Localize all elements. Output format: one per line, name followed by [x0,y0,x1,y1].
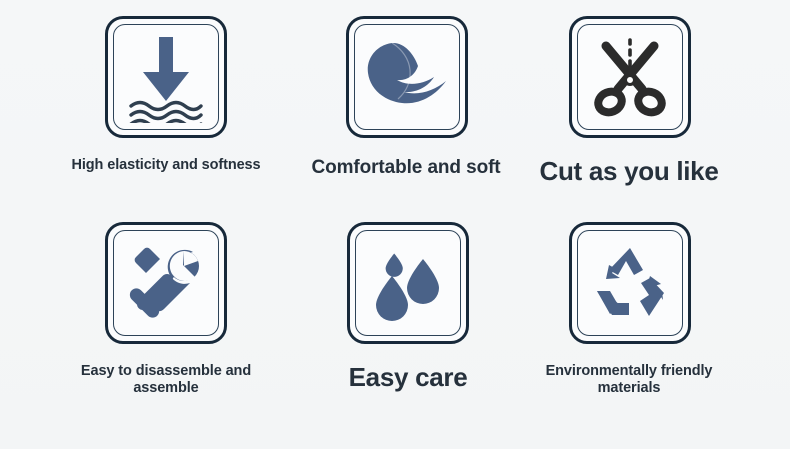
feature-label: Comfortable and soft [311,157,500,179]
feature-label: Cut as you like [540,157,719,187]
icon-frame [105,16,227,138]
hammer-wrench-icon [122,239,210,327]
feature-item-cut-as-you-like: Cut as you like [508,16,750,187]
arrow-down-waves-icon [123,31,209,123]
feature-item-high-elasticity: High elasticity and softness [45,16,287,174]
feature-item-easy-care: Easy care [287,222,529,393]
feature-label: High elasticity and softness [72,157,261,174]
icon-frame [569,222,691,344]
feature-label: Environmentally friendly materials [546,363,713,396]
recycle-icon [588,243,672,323]
icon-frame [347,222,469,344]
feature-item-comfortable-soft: Comfortable and soft [285,16,527,179]
scissors-icon [589,34,671,120]
icon-frame [105,222,227,344]
icon-frame [346,16,468,138]
feature-label: Easy care [349,363,468,393]
water-drops-icon [367,242,449,324]
feature-item-easy-disassemble: Easy to disassemble and assemble [45,222,287,396]
feather-icon [362,39,452,115]
feature-label: Easy to disassemble and assemble [81,363,251,396]
feature-grid: High elasticity and softness Comfortable… [0,0,790,449]
icon-frame [569,16,691,138]
feature-item-eco-friendly: Environmentally friendly materials [508,222,750,396]
